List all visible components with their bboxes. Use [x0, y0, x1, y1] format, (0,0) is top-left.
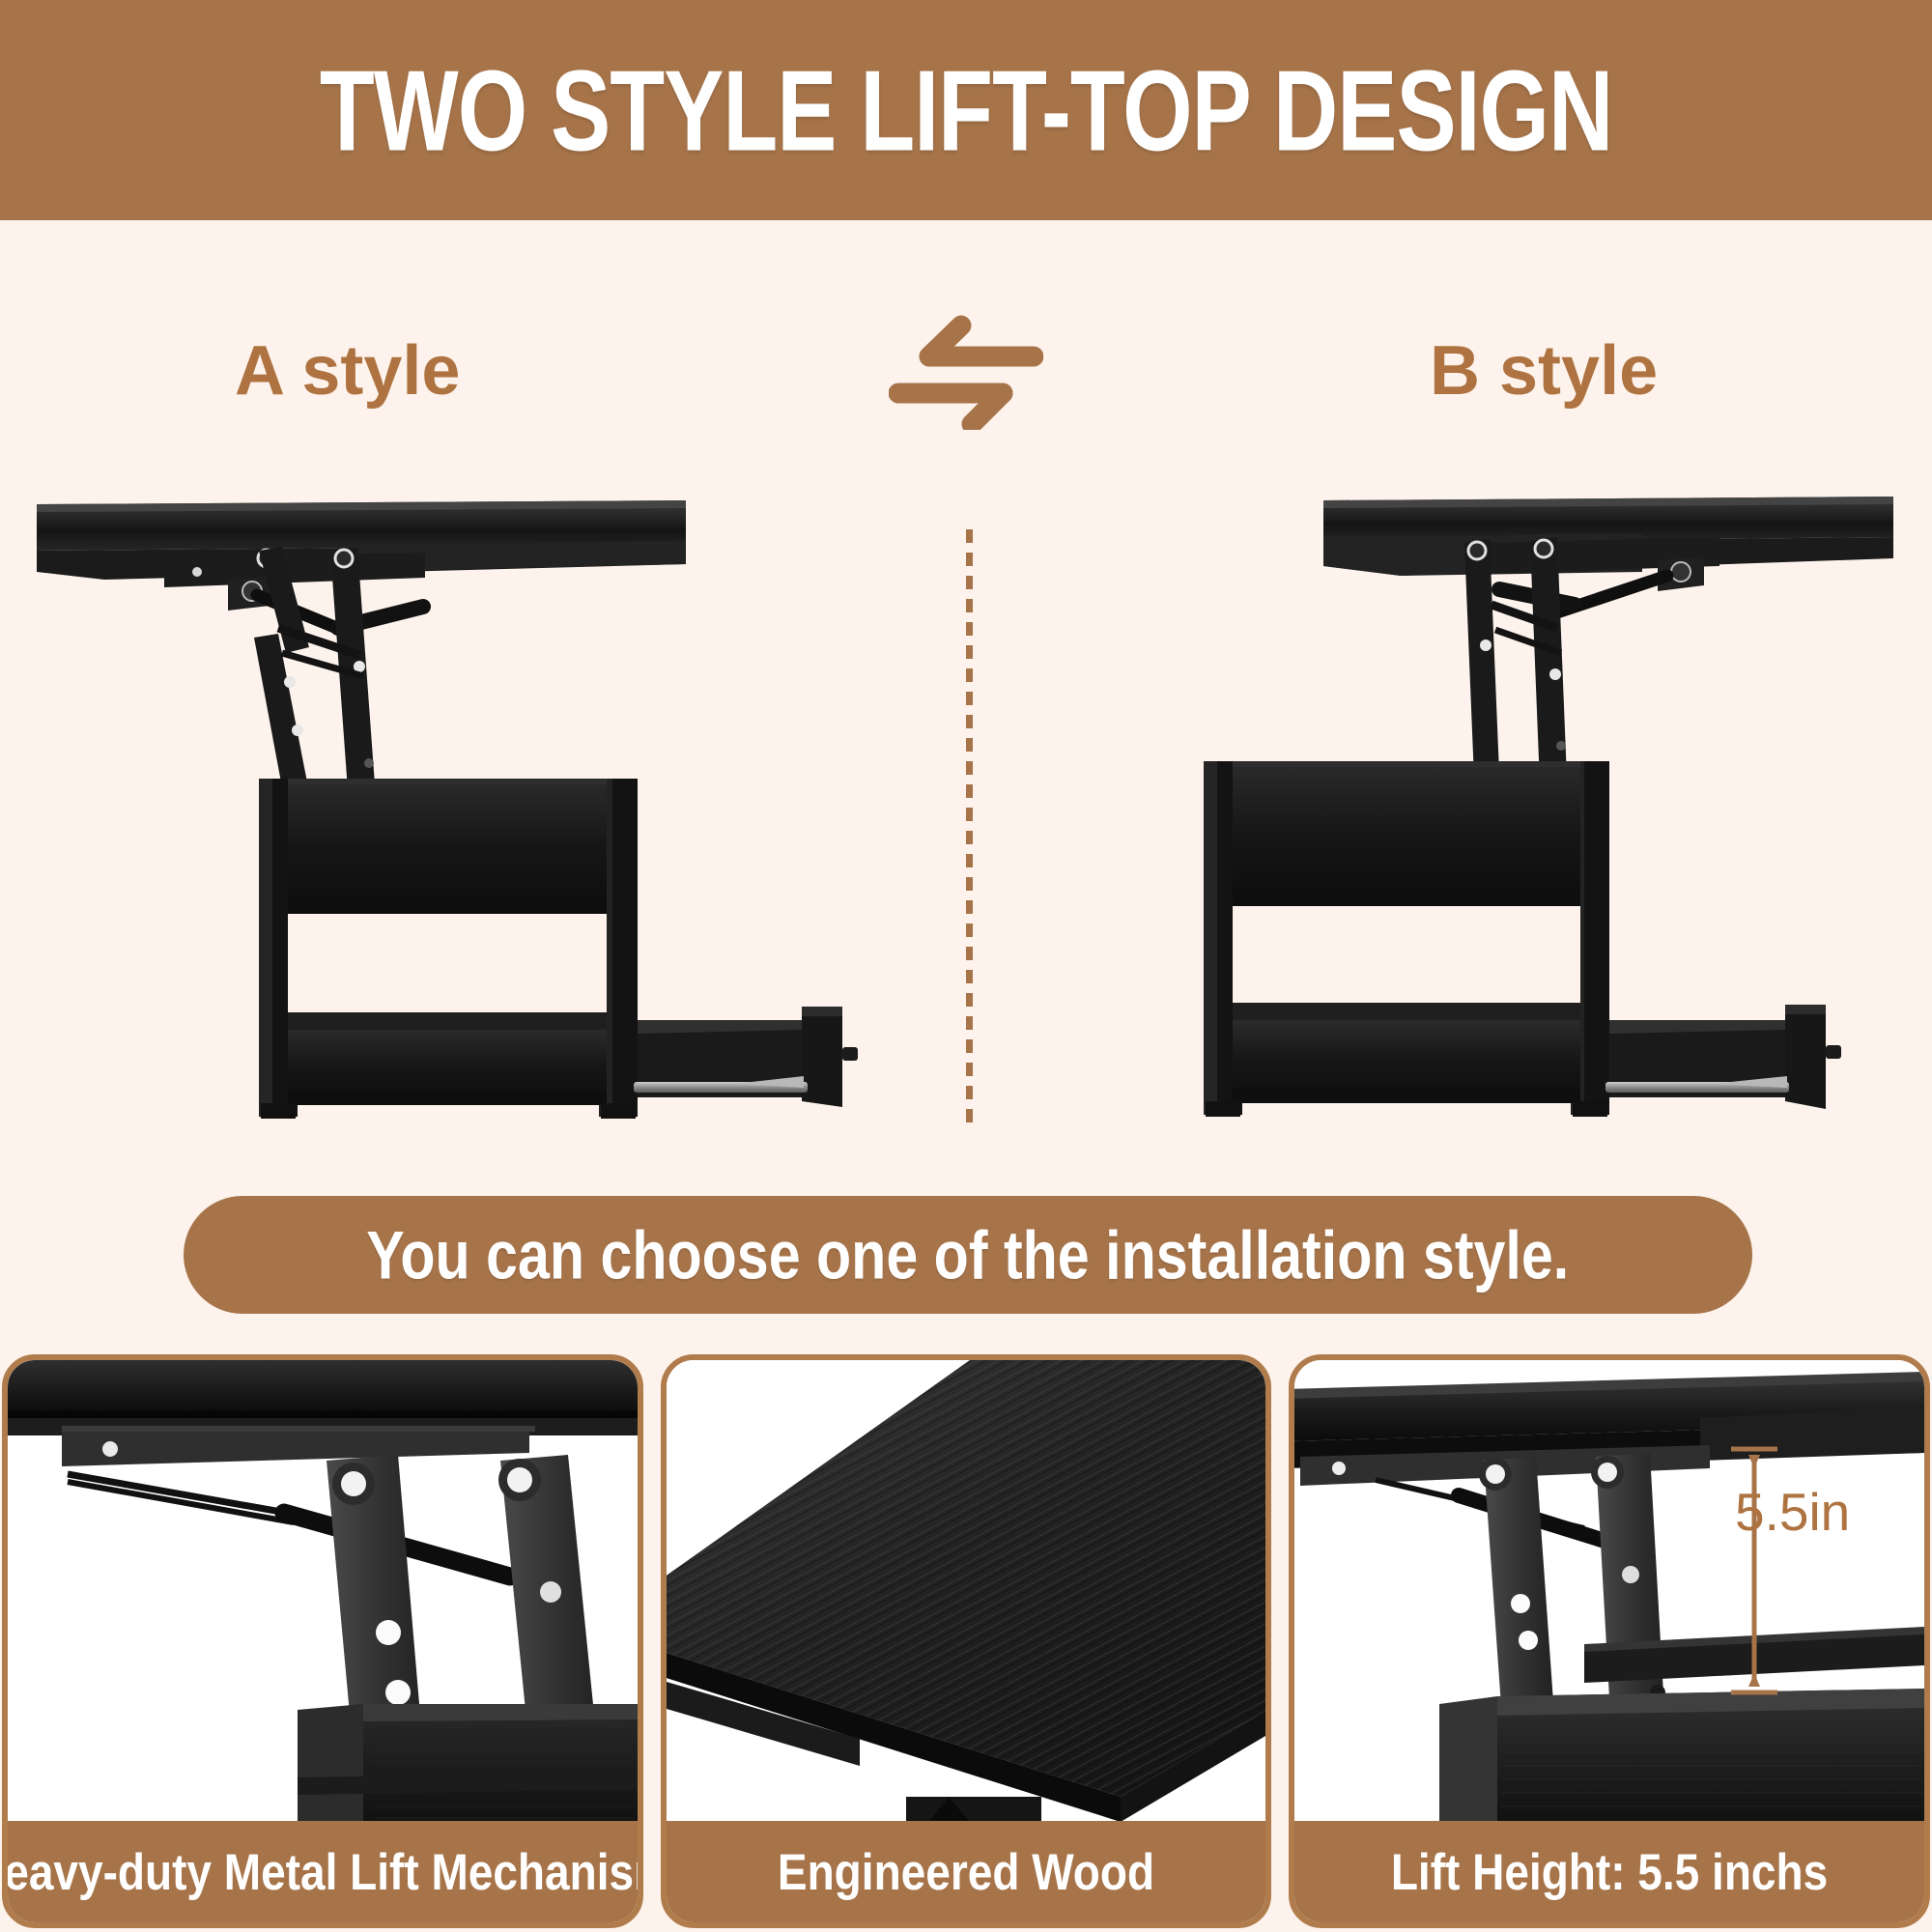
installation-style-banner: You can choose one of the installation s… — [184, 1196, 1752, 1314]
feature-caption-text: Lift Height: 5.5 inchs — [1391, 1846, 1828, 1896]
feature-image-lift-height — [1294, 1360, 1924, 1827]
lift-mechanism-b — [1464, 537, 1719, 784]
feature-image-engineered-wood — [667, 1360, 1265, 1827]
lift-height-measure-label: 5.5in — [1735, 1486, 1850, 1539]
lift-mechanism-a — [164, 547, 425, 798]
feature-caption-lift-height: Lift Height: 5.5 inchs — [1294, 1821, 1924, 1922]
dashed-vertical-divider — [966, 529, 973, 1132]
feature-caption-text: Engineered Wood — [778, 1846, 1154, 1896]
table-body-b — [1204, 761, 1609, 1117]
feature-panel-engineered-wood: Engineered Wood — [661, 1354, 1271, 1928]
swap-arrows-icon — [889, 314, 1043, 430]
feature-panel-lift-height: Lift Height: 5.5 inchs — [1289, 1354, 1930, 1928]
feature-panel-lift-mechanism: Heavy-duty Metal Lift Mechanism — [2, 1354, 643, 1928]
product-illustration-b-style — [1121, 483, 1922, 1121]
feature-caption-engineered-wood: Engineered Wood — [667, 1821, 1265, 1922]
table-body-a — [259, 779, 638, 1119]
feature-caption-text: Heavy-duty Metal Lift Mechanism — [2, 1846, 643, 1896]
banner-text: You can choose one of the installation s… — [367, 1221, 1570, 1290]
infographic-page: TWO STYLE LIFT-TOP DESIGN A style B styl… — [0, 0, 1932, 1932]
pullout-drawer-a — [634, 1007, 858, 1107]
pullout-drawer-b — [1605, 1005, 1841, 1109]
product-illustration-a-style — [19, 483, 927, 1121]
feature-caption-lift-mechanism: Heavy-duty Metal Lift Mechanism — [8, 1821, 638, 1922]
feature-image-lift-mechanism — [8, 1360, 638, 1827]
page-title: TWO STYLE LIFT-TOP DESIGN — [320, 53, 1612, 167]
style-label-b: B style — [1430, 336, 1658, 406]
header-band: TWO STYLE LIFT-TOP DESIGN — [0, 0, 1932, 220]
style-label-a: A style — [235, 336, 460, 406]
